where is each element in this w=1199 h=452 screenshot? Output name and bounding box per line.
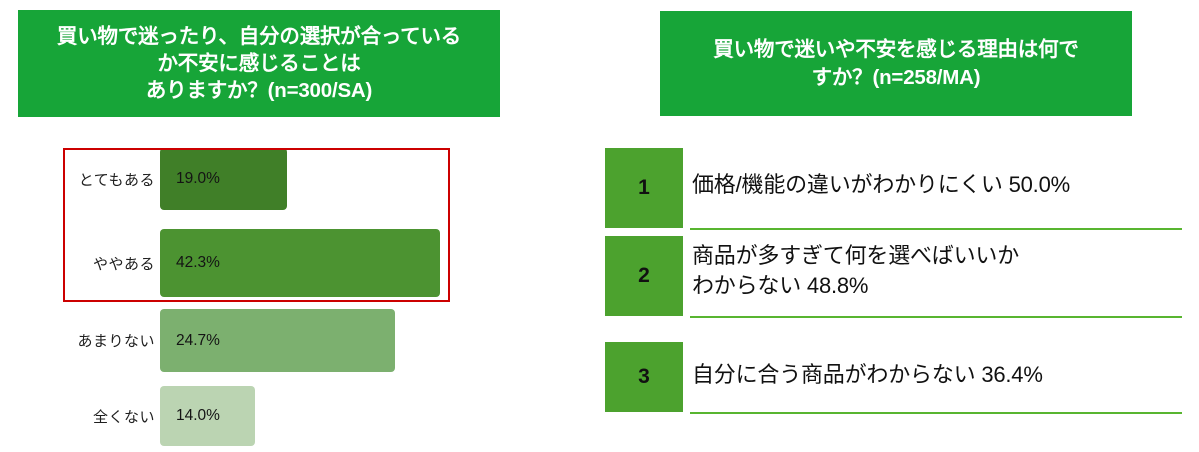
rank-divider — [690, 316, 1182, 318]
bar-row: ややある 42.3% — [0, 229, 600, 297]
bar-fill: 19.0% — [160, 148, 287, 210]
bar-track: 19.0% — [160, 148, 287, 210]
rank-number: 2 — [638, 264, 650, 288]
left-panel: 買い物で迷ったり、自分の選択が合っている か不安に感じることは ありますか？(n… — [0, 0, 600, 452]
rank-badge: 2 — [605, 236, 683, 316]
rank-number: 1 — [638, 176, 650, 200]
left-title-text: 買い物で迷ったり、自分の選択が合っている か不安に感じることは ありますか？(n… — [57, 23, 461, 104]
bar-fill: 24.7% — [160, 309, 395, 372]
rank-badge: 1 — [605, 148, 683, 228]
bar-chart: とてもある 19.0% ややある 42.3% あまりない 24.7% — [0, 143, 600, 443]
bar-fill: 14.0% — [160, 386, 255, 446]
bar-value-label: 19.0% — [160, 170, 220, 188]
bar-value-label: 14.0% — [160, 407, 220, 425]
bar-category-label: とてもある — [35, 169, 155, 190]
bar-value-label: 24.7% — [160, 332, 220, 350]
bar-row: あまりない 24.7% — [0, 309, 600, 372]
rank-badge: 3 — [605, 342, 683, 412]
rank-number: 3 — [638, 365, 650, 389]
bar-category-label: ややある — [35, 253, 155, 274]
bar-row: とてもある 19.0% — [0, 148, 600, 210]
bar-category-label: 全くない — [35, 406, 155, 427]
ranking-list: 1 価格/機能の違いがわかりにくい 50.0% 2 商品が多すぎて何を選べばいい… — [600, 0, 1199, 452]
bar-track: 14.0% — [160, 386, 255, 446]
bar-row: 全くない 14.0% — [0, 386, 600, 446]
bar-value-label: 42.3% — [160, 254, 220, 272]
bar-track: 24.7% — [160, 309, 395, 372]
rank-divider — [690, 412, 1182, 414]
left-title-banner: 買い物で迷ったり、自分の選択が合っている か不安に感じることは ありますか？(n… — [18, 10, 500, 117]
rank-item-text: 商品が多すぎて何を選べばいいか わからない 48.8% — [692, 241, 1190, 302]
bar-fill: 42.3% — [160, 229, 440, 297]
rank-item-text: 自分に合う商品がわからない 36.4% — [692, 360, 1190, 390]
bar-category-label: あまりない — [35, 330, 155, 351]
bar-track: 42.3% — [160, 229, 440, 297]
rank-item-text: 価格/機能の違いがわかりにくい 50.0% — [692, 170, 1190, 200]
rank-divider — [690, 228, 1182, 230]
right-panel: 買い物で迷いや不安を感じる理由は何で すか？(n=258/MA) 1 価格/機能… — [600, 0, 1199, 452]
